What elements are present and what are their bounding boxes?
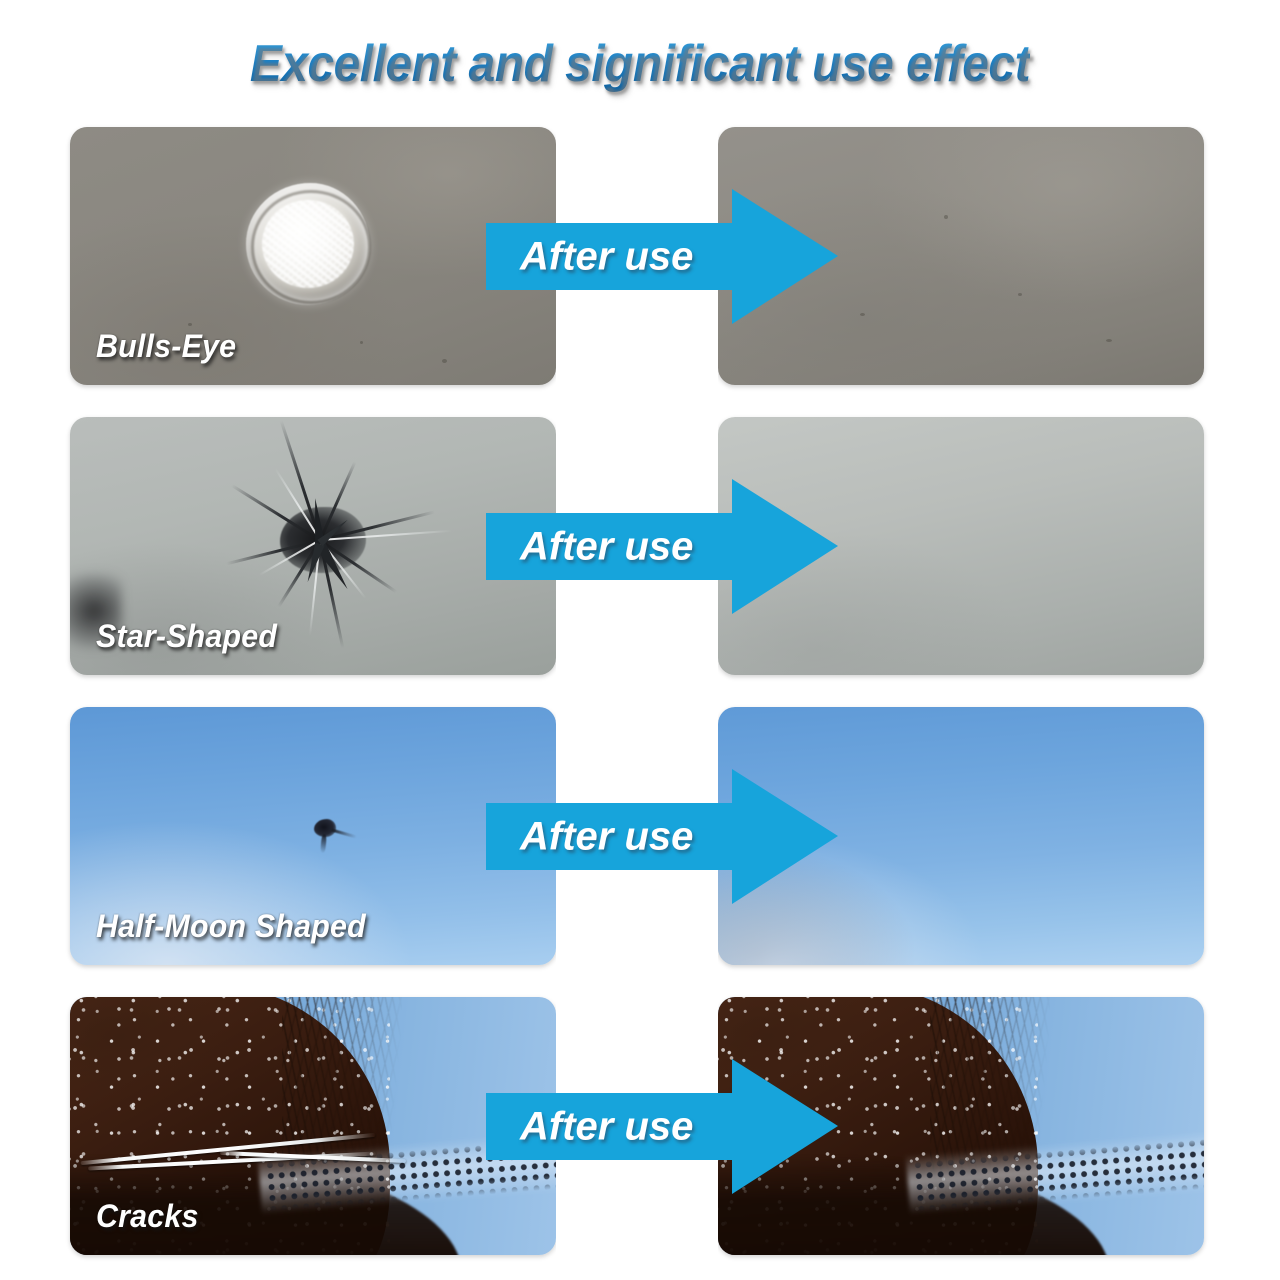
comparison-row-half-moon-shaped: Half-Moon Shaped After use (0, 707, 1280, 965)
after-image-cracks (718, 997, 1204, 1255)
surface-speck (360, 341, 363, 344)
comparison-row-cracks: Cracks After use (0, 997, 1280, 1255)
row-gap-band (556, 127, 718, 385)
surface-speck (944, 215, 948, 219)
surface-speck (1106, 339, 1112, 342)
row-gap-band (556, 707, 718, 965)
after-photo-star-shaped (718, 417, 1204, 675)
after-image-star-shaped (718, 417, 1204, 675)
star-crack-icon (210, 463, 440, 613)
surface-speck (860, 313, 865, 316)
comparison-row-star-shaped: Star-Shaped After use (0, 417, 1280, 675)
comparison-rows: Bulls-Eye After use (0, 0, 1280, 1280)
before-image-star-shaped: Star-Shaped (70, 417, 556, 675)
damage-label-bulls-eye: Bulls-Eye (96, 328, 236, 365)
surface-speck (1018, 293, 1022, 296)
damage-label-cracks: Cracks (96, 1198, 199, 1235)
after-image-bulls-eye (718, 127, 1204, 385)
chip-tail (320, 834, 327, 853)
after-photo-bulls-eye (718, 127, 1204, 385)
bulls-eye-chip-icon (246, 183, 370, 305)
row-gap-band (556, 997, 718, 1255)
before-image-cracks: Cracks (70, 997, 556, 1255)
after-photo-cracks (718, 997, 1204, 1255)
surface-speck (442, 359, 447, 363)
after-photo-half-moon-shaped (718, 707, 1204, 965)
comparison-row-bulls-eye: Bulls-Eye After use (0, 127, 1280, 385)
damage-label-half-moon-shaped: Half-Moon Shaped (96, 908, 366, 945)
before-image-bulls-eye: Bulls-Eye (70, 127, 556, 385)
surface-speck (188, 323, 192, 326)
after-image-half-moon-shaped (718, 707, 1204, 965)
row-gap-band (556, 417, 718, 675)
surface-speck (806, 255, 810, 258)
half-moon-chip-icon (314, 819, 340, 853)
chip-tail (331, 828, 357, 838)
before-image-half-moon-shaped: Half-Moon Shaped (70, 707, 556, 965)
damage-label-star-shaped: Star-Shaped (96, 618, 277, 655)
